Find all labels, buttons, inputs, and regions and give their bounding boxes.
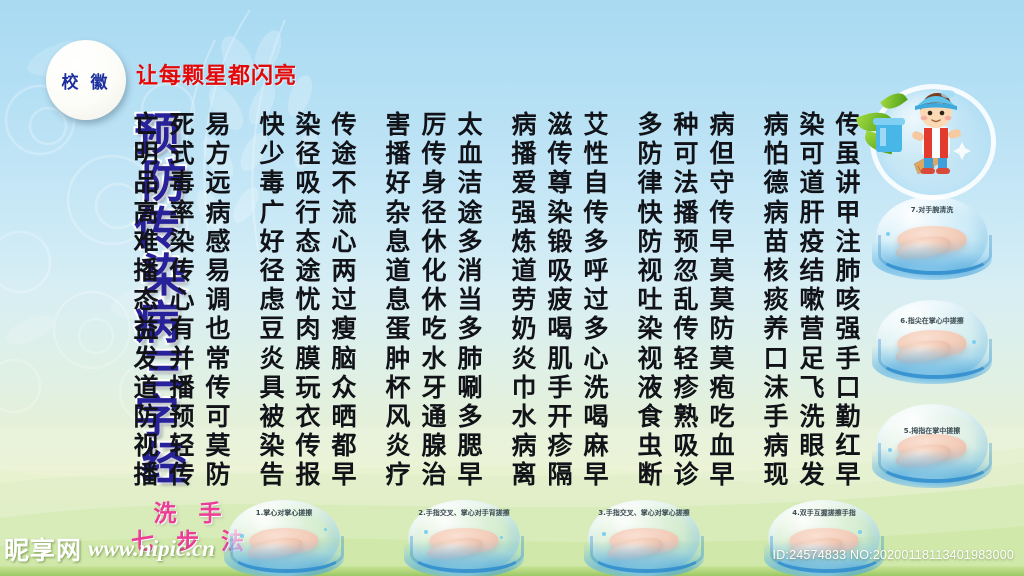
verse-char: 衣: [295, 402, 320, 431]
verse-char: 熟: [673, 402, 698, 431]
verse-char: 心: [169, 285, 194, 314]
verse-char: 病: [511, 110, 536, 139]
verse-char: 杂: [385, 198, 410, 227]
verse-char: 勤: [835, 402, 860, 431]
verse-char: 洁: [457, 168, 482, 197]
verse-char: 德: [763, 168, 788, 197]
verse-char: 养: [763, 314, 788, 343]
verse-char: 疗: [385, 460, 410, 489]
verse-char: 道: [385, 256, 410, 285]
verse-char: 尊: [547, 168, 572, 197]
verse-char: 膜: [295, 344, 320, 373]
verse-char: 可: [799, 139, 824, 168]
verse-char: 血: [709, 431, 734, 460]
verse-char: 少: [259, 139, 284, 168]
verse-char: 当: [457, 285, 482, 314]
verse-char: 播: [385, 139, 410, 168]
image-id-text: ID:24574833 NO:20200118113401983000: [773, 548, 1014, 562]
verse-group: 艾性自传多呼过多心洗喝麻早滋传尊染锻吸疲喝肌手开疹隔病播爱强炼道劳奶炎巾水病离: [506, 110, 614, 490]
verse-char: 莫: [709, 344, 734, 373]
verse-char: 休: [421, 227, 446, 256]
verse-char: 多: [457, 402, 482, 431]
verse-char: 注: [835, 227, 860, 256]
verse-group: 传虽讲甲注肺咳强手口勤红早染可道肝疫结嗽营足飞洗眼发病怕德病苗核痰养口沫手病现: [758, 110, 866, 490]
mascot-boy-sweeping: [862, 82, 1012, 192]
step-caption: 1.掌心对掌心搓擦: [256, 508, 313, 518]
verse-char: 不: [331, 168, 356, 197]
verse-char: 染: [295, 110, 320, 139]
verse-char: 咳: [835, 285, 860, 314]
verse-char: 炎: [385, 431, 410, 460]
verse-char: 可: [205, 402, 230, 431]
water-drop: [424, 530, 428, 534]
verse-char: 并: [169, 344, 194, 373]
verse-char: 太: [457, 110, 482, 139]
verse-char: 飞: [799, 373, 824, 402]
verse-char: 手: [547, 373, 572, 402]
poster-canvas: 校 徽 让每颗星都闪亮 预 防 传 染 病 三 字 经 传虽讲甲注肺咳强手口勤红…: [0, 0, 1024, 576]
verse-char: 多: [583, 314, 608, 343]
verse-char: 态: [133, 285, 158, 314]
verse-char: 肺: [457, 344, 482, 373]
verse-char: 病: [763, 110, 788, 139]
verse-char: 痰: [763, 285, 788, 314]
water-arc: [878, 235, 992, 275]
verse-char: 可: [673, 139, 698, 168]
verse-char: 自: [583, 168, 608, 197]
verse-char: 肿: [385, 344, 410, 373]
verse-char: 结: [799, 256, 824, 285]
verse-column: 病播爱强炼道劳奶炎巾水病离: [506, 110, 542, 490]
verse-char: 瘦: [331, 314, 356, 343]
verse-char: 流: [331, 198, 356, 227]
verse-char: 传: [583, 198, 608, 227]
verse-column: 滋传尊染锻吸疲喝肌手开疹隔: [542, 110, 578, 490]
verse-char: 预: [673, 227, 698, 256]
verse-char: 好: [385, 168, 410, 197]
verse-char: 传: [331, 110, 356, 139]
handwash-step-4: 4.双手互握搓擦手指: [768, 500, 880, 576]
verse-char: 肉: [295, 314, 320, 343]
verse-char: 离: [511, 460, 536, 489]
verse-char: 传: [421, 139, 446, 168]
verse-char: 肌: [547, 344, 572, 373]
verse-char: 喝: [547, 314, 572, 343]
verse-char: 方: [205, 139, 230, 168]
verse-group: 传途不流心两过瘦脑众晒都早染径吸行态途忧肉膜玩衣传报快少毒广好径虑豆炎具被染告: [254, 110, 362, 490]
school-badge-label: 校 徽: [62, 68, 111, 93]
verse-group: 病但守传早莫莫防莫疱吃血早种可法播预忽乱传轻疹熟吸诊多防律快防视吐染视液食虫断: [632, 110, 740, 490]
verse-char: 炼: [511, 227, 536, 256]
verse-char: 途: [331, 139, 356, 168]
verse-char: 腺: [421, 431, 446, 460]
verse-char: 多: [583, 227, 608, 256]
verse-char: 手: [835, 344, 860, 373]
verse-char: 吐: [637, 285, 662, 314]
verse-char: 发: [133, 344, 158, 373]
verse-char: 法: [673, 168, 698, 197]
verse-char: 明: [133, 139, 158, 168]
verse-char: 报: [295, 460, 320, 489]
verse-char: 脑: [331, 344, 356, 373]
verse-char: 防: [637, 139, 662, 168]
verse-group: 易方远病感易调也常传可莫防死式毒率染传心有并播预轻传亡明品高难播态益发道防视播: [128, 110, 236, 490]
verse-char: 具: [259, 373, 284, 402]
verse-char: 播: [133, 256, 158, 285]
verse-char: 唰: [457, 373, 482, 402]
verse-column: 传虽讲甲注肺咳强手口勤红早: [830, 110, 866, 490]
verse-char: 高: [133, 198, 158, 227]
verse-char: 性: [583, 139, 608, 168]
verse-char: 律: [637, 168, 662, 197]
verse-char: 风: [385, 402, 410, 431]
verse-char: 滋: [547, 110, 572, 139]
handwash-step-6: 6.指尖在掌心中搓擦: [876, 300, 988, 382]
verse-char: 多: [637, 110, 662, 139]
verse-char: 杯: [385, 373, 410, 402]
verse-char: 视: [637, 256, 662, 285]
water-drop: [888, 448, 892, 452]
verse-char: 疹: [547, 431, 572, 460]
verse-char: 毒: [169, 168, 194, 197]
verse-char: 播: [511, 139, 536, 168]
verse-char: 吃: [709, 402, 734, 431]
handwash-step-5: 5.拇指在掌中搓擦: [876, 404, 988, 486]
verse-char: 麻: [583, 431, 608, 460]
verse-char: 口: [763, 344, 788, 373]
verse-column: 死式毒率染传心有并播预轻传: [164, 110, 200, 490]
slogan-text: 让每颗星都闪亮: [136, 58, 297, 90]
school-badge: 校 徽: [46, 40, 126, 120]
verse-char: 疫: [799, 227, 824, 256]
verse-char: 发: [799, 460, 824, 489]
verse-char: 行: [295, 198, 320, 227]
verse-char: 播: [133, 460, 158, 489]
verse-char: 吸: [673, 431, 698, 460]
verse-char: 洗: [583, 373, 608, 402]
verse-char: 过: [331, 285, 356, 314]
verse-char: 防: [205, 460, 230, 489]
verse-char: 途: [457, 198, 482, 227]
verse-char: 喝: [583, 402, 608, 431]
verse-group: 太血洁途多消当多肺唰多腮早厉传身径休化休吃水牙通腺治害播好杂息道息蛋肿杯风炎疗: [380, 110, 488, 490]
verse-char: 径: [295, 139, 320, 168]
verse-char: 调: [205, 285, 230, 314]
verse-char: 开: [547, 402, 572, 431]
verse-char: 道: [511, 256, 536, 285]
verse-char: 强: [511, 198, 536, 227]
water-drop: [240, 534, 244, 538]
verse-char: 肝: [799, 198, 824, 227]
verse-char: 身: [421, 168, 446, 197]
verse-char: 但: [709, 139, 734, 168]
water-arc: [878, 339, 992, 379]
verse-char: 吸: [547, 256, 572, 285]
verse-char: 轻: [673, 344, 698, 373]
verse-char: 洗: [799, 402, 824, 431]
verse-char: 快: [259, 110, 284, 139]
verse-char: 腮: [457, 431, 482, 460]
step-caption: 7.对手腕清洗: [911, 205, 954, 215]
verse-char: 蛋: [385, 314, 410, 343]
verse-char: 率: [169, 198, 194, 227]
verse-char: 染: [547, 198, 572, 227]
verse-char: 染: [637, 314, 662, 343]
verse-char: 感: [205, 227, 230, 256]
verse-char: 早: [709, 460, 734, 489]
verse-char: 视: [637, 344, 662, 373]
verse-char: 血: [457, 139, 482, 168]
verse-char: 断: [637, 460, 662, 489]
verse-char: 益: [133, 314, 158, 343]
verse-char: 告: [259, 460, 284, 489]
verse-char: 食: [637, 402, 662, 431]
verse-column: 快少毒广好径虑豆炎具被染告: [254, 110, 290, 490]
verse-char: 害: [385, 110, 410, 139]
verse-char: 休: [421, 285, 446, 314]
verse-char: 也: [205, 314, 230, 343]
verse-char: 难: [133, 227, 158, 256]
verse-column: 病怕德病苗核痰养口沫手病现: [758, 110, 794, 490]
verse-char: 忽: [673, 256, 698, 285]
verse-char: 途: [295, 256, 320, 285]
water-drop: [500, 536, 503, 539]
verse-char: 早: [331, 460, 356, 489]
verse-char: 病: [709, 110, 734, 139]
verse-column: 厉传身径休化休吃水牙通腺治: [416, 110, 452, 490]
verse-char: 奶: [511, 314, 536, 343]
verse-char: 传: [295, 431, 320, 460]
verse-char: 厉: [421, 110, 446, 139]
verse-char: 苗: [763, 227, 788, 256]
verse-column: 亡明品高难播态益发道防视播: [128, 110, 164, 490]
verse-column: 染可道肝疫结嗽营足飞洗眼发: [794, 110, 830, 490]
verse-char: 诊: [673, 460, 698, 489]
verse-char: 足: [799, 344, 824, 373]
verse-char: 息: [385, 227, 410, 256]
verse-char: 传: [835, 110, 860, 139]
verse-char: 艾: [583, 110, 608, 139]
verse-char: 核: [763, 256, 788, 285]
verse-char: 怕: [763, 139, 788, 168]
verse-char: 染: [259, 431, 284, 460]
verse-char: 疱: [709, 373, 734, 402]
verse-char: 水: [511, 402, 536, 431]
verse-char: 虑: [259, 285, 284, 314]
verse-char: 预: [169, 402, 194, 431]
handwash-step-3: 3.手指交叉、掌心对掌心搓擦: [588, 500, 700, 576]
watermark-url: www.nipic.cn: [88, 536, 215, 562]
verse-char: 晒: [331, 402, 356, 431]
verse-char: 防: [709, 314, 734, 343]
verse-char: 炎: [259, 344, 284, 373]
water-arc: [590, 536, 704, 573]
handwash-step-7: 7.对手腕清洗: [876, 196, 988, 278]
verse-char: 玩: [295, 373, 320, 402]
water-drop: [972, 340, 976, 344]
verse-char: 病: [511, 431, 536, 460]
verse-char: 死: [169, 110, 194, 139]
verse-char: 吃: [421, 314, 446, 343]
watermark-site-name: 昵享网: [4, 531, 82, 567]
verse-char: 眼: [799, 431, 824, 460]
water-drop: [886, 232, 890, 236]
verse-column: 传途不流心两过瘦脑众晒都早: [326, 110, 362, 490]
verse-char: 播: [673, 198, 698, 227]
verse-char: 常: [205, 344, 230, 373]
water-drop: [324, 528, 327, 531]
verse-char: 爱: [511, 168, 536, 197]
verse-column: 易方远病感易调也常传可莫防: [200, 110, 236, 490]
verse-column: 病但守传早莫莫防莫疱吃血早: [704, 110, 740, 490]
verse-char: 快: [637, 198, 662, 227]
verse-char: 过: [583, 285, 608, 314]
verse-char: 亡: [133, 110, 158, 139]
verse-char: 早: [583, 460, 608, 489]
verse-char: 肺: [835, 256, 860, 285]
verse-char: 甲: [835, 198, 860, 227]
verse-char: 传: [169, 256, 194, 285]
verse-char: 好: [259, 227, 284, 256]
handwash-step-2: 2.手指交叉、掌心对手背搓擦: [408, 500, 520, 576]
verse-char: 乱: [673, 285, 698, 314]
verse-char: 病: [763, 198, 788, 227]
verse-char: 毒: [259, 168, 284, 197]
step-caption: 2.手指交叉、掌心对手背搓擦: [418, 508, 510, 518]
verse-char: 被: [259, 402, 284, 431]
verse-char: 豆: [259, 314, 284, 343]
step-caption: 6.指尖在掌心中搓擦: [900, 316, 964, 326]
verse-char: 病: [763, 431, 788, 460]
verse-char: 忧: [295, 285, 320, 314]
verse-char: 锻: [547, 227, 572, 256]
verse-char: 沫: [763, 373, 788, 402]
verse-column: 太血洁途多消当多肺唰多腮早: [452, 110, 488, 490]
verse-columns: 传虽讲甲注肺咳强手口勤红早染可道肝疫结嗽营足飞洗眼发病怕德病苗核痰养口沫手病现病…: [206, 110, 866, 490]
handwash-step-1: 1.掌心对掌心搓擦: [228, 500, 340, 576]
verse-char: 易: [205, 256, 230, 285]
verse-char: 莫: [709, 256, 734, 285]
verse-char: 吸: [295, 168, 320, 197]
verse-char: 疲: [547, 285, 572, 314]
verse-char: 强: [835, 314, 860, 343]
step-caption: 3.手指交叉、掌心对掌心搓擦: [598, 508, 690, 518]
verse-char: 液: [637, 373, 662, 402]
verse-char: 早: [457, 460, 482, 489]
water-arc: [878, 443, 992, 483]
verse-char: 营: [799, 314, 824, 343]
verse-char: 染: [799, 110, 824, 139]
verse-char: 传: [673, 314, 698, 343]
verse-char: 口: [835, 373, 860, 402]
verse-char: 传: [547, 139, 572, 168]
verse-char: 病: [205, 198, 230, 227]
verse-char: 劳: [511, 285, 536, 314]
verse-char: 牙: [421, 373, 446, 402]
verse-char: 种: [673, 110, 698, 139]
verse-char: 虫: [637, 431, 662, 460]
verse-char: 虽: [835, 139, 860, 168]
verse-char: 嗽: [799, 285, 824, 314]
verse-column: 艾性自传多呼过多心洗喝麻早: [578, 110, 614, 490]
verse-char: 红: [835, 431, 860, 460]
verse-char: 态: [295, 227, 320, 256]
verse-char: 传: [709, 198, 734, 227]
verse-char: 径: [421, 198, 446, 227]
verse-char: 心: [331, 227, 356, 256]
verse-char: 隔: [547, 460, 572, 489]
verse-char: 现: [763, 460, 788, 489]
verse-char: 式: [169, 139, 194, 168]
verse-char: 道: [133, 373, 158, 402]
verse-char: 通: [421, 402, 446, 431]
verse-char: 播: [169, 373, 194, 402]
water-arc: [410, 536, 524, 573]
water-drop: [858, 530, 862, 534]
verse-char: 品: [133, 168, 158, 197]
verse-column: 染径吸行态途忧肉膜玩衣传报: [290, 110, 326, 490]
verse-char: 讲: [835, 168, 860, 197]
water-arc: [230, 536, 344, 573]
verse-char: 息: [385, 285, 410, 314]
verse-char: 巾: [511, 373, 536, 402]
verse-char: 广: [259, 198, 284, 227]
verse-char: 防: [637, 227, 662, 256]
verse-char: 都: [331, 431, 356, 460]
verse-char: 治: [421, 460, 446, 489]
verse-char: 传: [169, 460, 194, 489]
boy-figure: [862, 82, 1012, 192]
verse-char: 消: [457, 256, 482, 285]
verse-char: 多: [457, 314, 482, 343]
verse-column: 多防律快防视吐染视液食虫断: [632, 110, 668, 490]
verse-char: 众: [331, 373, 356, 402]
verse-column: 害播好杂息道息蛋肿杯风炎疗: [380, 110, 416, 490]
verse-char: 多: [457, 227, 482, 256]
verse-column: 种可法播预忽乱传轻疹熟吸诊: [668, 110, 704, 490]
verse-char: 染: [169, 227, 194, 256]
verse-char: 有: [169, 314, 194, 343]
verse-char: 道: [799, 168, 824, 197]
verse-char: 早: [709, 227, 734, 256]
verse-char: 两: [331, 256, 356, 285]
verse-char: 传: [205, 373, 230, 402]
step-caption: 5.拇指在掌中搓擦: [904, 426, 961, 436]
verse-char: 莫: [709, 285, 734, 314]
verse-char: 守: [709, 168, 734, 197]
verse-char: 防: [133, 402, 158, 431]
verse-char: 手: [763, 402, 788, 431]
verse-char: 呼: [583, 256, 608, 285]
step-caption: 4.双手互握搓擦手指: [792, 508, 856, 518]
verse-char: 远: [205, 168, 230, 197]
verse-char: 水: [421, 344, 446, 373]
watermark: 昵享网 www.nipic.cn: [4, 532, 215, 566]
verse-char: 径: [259, 256, 284, 285]
verse-char: 早: [835, 460, 860, 489]
verse-char: 疹: [673, 373, 698, 402]
water-drop: [602, 532, 606, 536]
verse-char: 易: [205, 110, 230, 139]
verse-char: 视: [133, 431, 158, 460]
verse-char: 化: [421, 256, 446, 285]
verse-char: 轻: [169, 431, 194, 460]
verse-char: 心: [583, 344, 608, 373]
verse-char: 莫: [205, 431, 230, 460]
verse-char: 炎: [511, 344, 536, 373]
